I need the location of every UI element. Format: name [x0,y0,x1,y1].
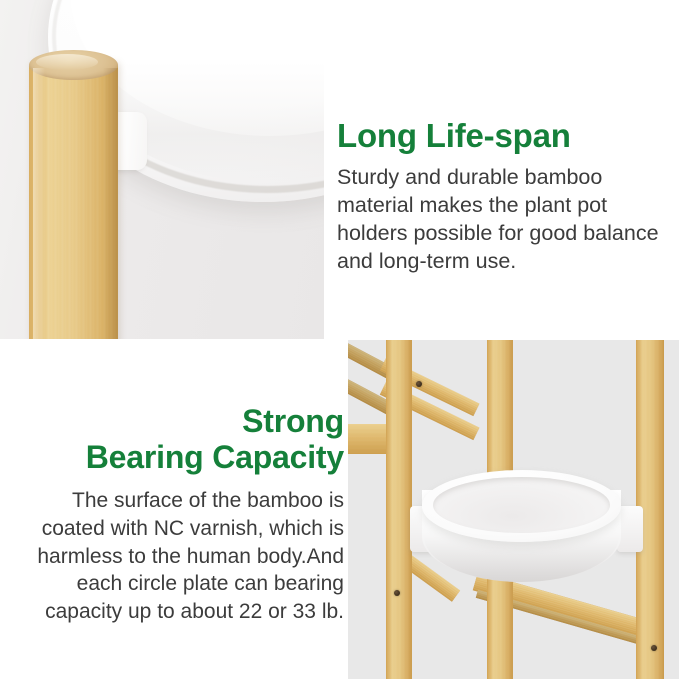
feature-heading-long-life-span: Long Life-span [337,118,671,155]
bamboo-leg-top-highlight [36,54,98,70]
screw-left-post [394,590,400,596]
product-photo-closeup [0,0,324,339]
screw-right-post [651,645,657,651]
feature-body-bearing-capacity: The surface of the bamboo is coated with… [8,487,344,627]
feature-heading-bearing-capacity: Strong Bearing Capacity [8,404,344,476]
screw-center-post [416,381,422,387]
bamboo-leg-right-shadow [103,68,118,339]
white-plate-well [433,477,610,533]
bamboo-leg-left-highlight [33,68,45,339]
product-photo-stand [348,340,679,679]
feature-block-bearing-capacity: Strong Bearing Capacity The surface of t… [8,404,344,626]
feature-block-long-life-span: Long Life-span Sturdy and durable bamboo… [337,118,671,276]
feature-body-long-life-span: Sturdy and durable bamboo material makes… [337,164,671,276]
infographic-canvas: Long Life-span Sturdy and durable bamboo… [0,0,679,679]
bamboo-post-left [386,340,412,679]
